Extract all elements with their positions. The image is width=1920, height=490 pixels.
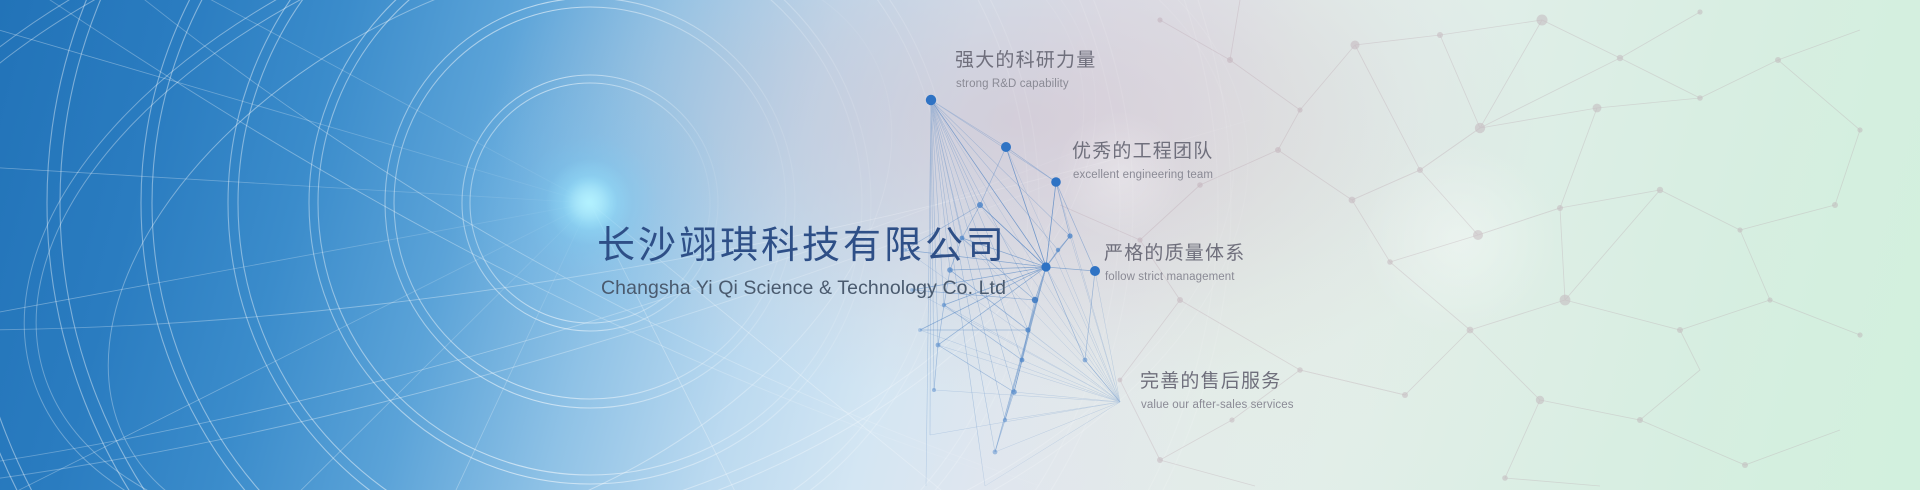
feature-label-cn: 严格的质量体系 <box>1104 242 1245 266</box>
feature-label-en: follow strict management <box>1105 270 1245 285</box>
feature-item-quality: 严格的质量体系 follow strict management <box>1104 242 1245 285</box>
feature-label-cn: 完善的售后服务 <box>1140 370 1294 394</box>
feature-label-en: value our after-sales services <box>1141 398 1294 413</box>
feature-label-en: excellent engineering team <box>1073 168 1213 183</box>
feature-label-cn: 强大的科研力量 <box>955 49 1096 73</box>
company-hero-banner: 长沙翊琪科技有限公司 Changsha Yi Qi Science & Tech… <box>0 0 1920 490</box>
feature-item-after-sales: 完善的售后服务 value our after-sales services <box>1140 370 1294 413</box>
feature-item-rd: 强大的科研力量 strong R&D capability <box>955 49 1096 92</box>
feature-label-en: strong R&D capability <box>956 77 1096 92</box>
feature-label-cn: 优秀的工程团队 <box>1072 140 1213 164</box>
feature-item-engineering: 优秀的工程团队 excellent engineering team <box>1072 140 1213 183</box>
